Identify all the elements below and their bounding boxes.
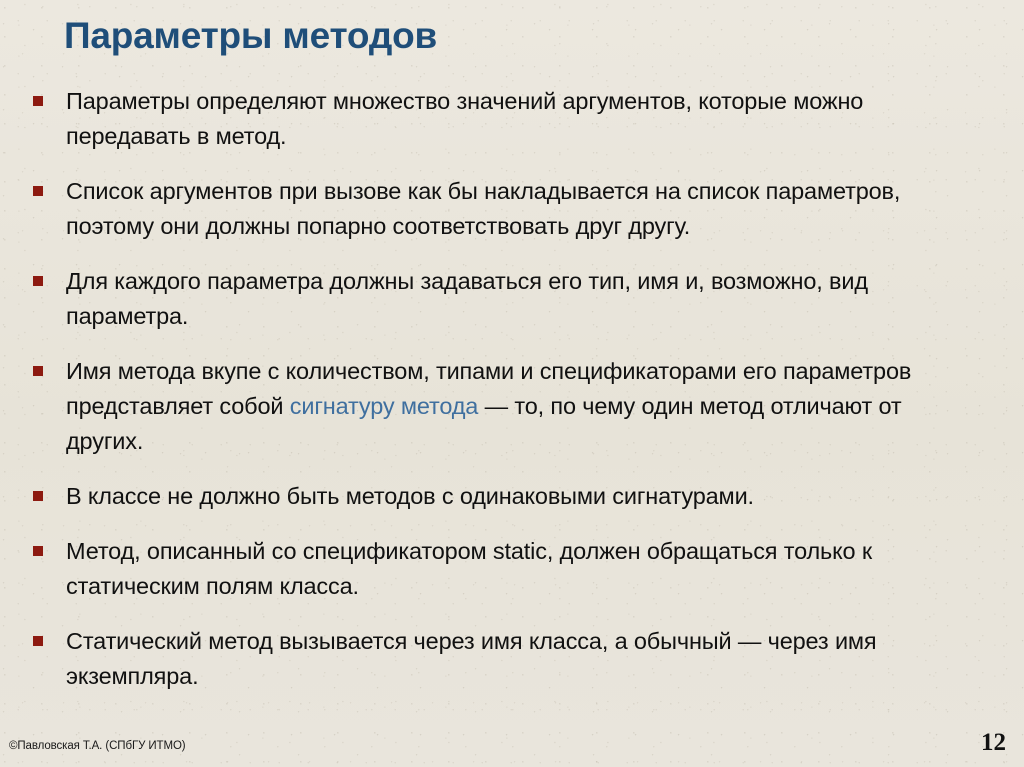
- square-bullet-icon: [33, 366, 43, 376]
- list-item-text: В классе не должно быть методов с одинак…: [66, 479, 980, 514]
- page-title: Параметры методов: [64, 12, 964, 60]
- list-item-text: Для каждого параметра должны задаваться …: [66, 264, 980, 334]
- accent-term-method-signature: сигнатуру метода: [290, 393, 478, 419]
- list-item-text: Параметры определяют множество значений …: [66, 84, 980, 154]
- list-item: Параметры определяют множество значений …: [28, 84, 980, 154]
- square-bullet-icon: [33, 636, 43, 646]
- list-item: Список аргументов при вызове как бы накл…: [28, 174, 980, 244]
- list-item-text: Имя метода вкупе с количеством, типами и…: [66, 354, 980, 459]
- list-item-text: Список аргументов при вызове как бы накл…: [66, 174, 980, 244]
- slide-canvas: Параметры методов Параметры определяют м…: [0, 0, 1024, 767]
- list-item: Метод, описанный со спецификатором stati…: [28, 534, 980, 604]
- list-item-text: Метод, описанный со спецификатором stati…: [66, 534, 980, 604]
- list-item: Статический метод вызывается через имя к…: [28, 624, 980, 694]
- list-item: В классе не должно быть методов с одинак…: [28, 479, 980, 514]
- slide-body: Параметры определяют множество значений …: [28, 84, 980, 694]
- square-bullet-icon: [33, 186, 43, 196]
- list-item-text: Статический метод вызывается через имя к…: [66, 624, 980, 694]
- square-bullet-icon: [33, 96, 43, 106]
- square-bullet-icon: [33, 276, 43, 286]
- copyright-note: ©Павловская Т.А. (СПбГУ ИТМО): [9, 739, 186, 753]
- page-number: 12: [981, 729, 1006, 757]
- bullet-list: Параметры определяют множество значений …: [28, 84, 980, 694]
- square-bullet-icon: [33, 491, 43, 501]
- square-bullet-icon: [33, 546, 43, 556]
- list-item: Имя метода вкупе с количеством, типами и…: [28, 354, 980, 459]
- slide-title-block: Параметры методов: [64, 12, 964, 68]
- list-item: Для каждого параметра должны задаваться …: [28, 264, 980, 334]
